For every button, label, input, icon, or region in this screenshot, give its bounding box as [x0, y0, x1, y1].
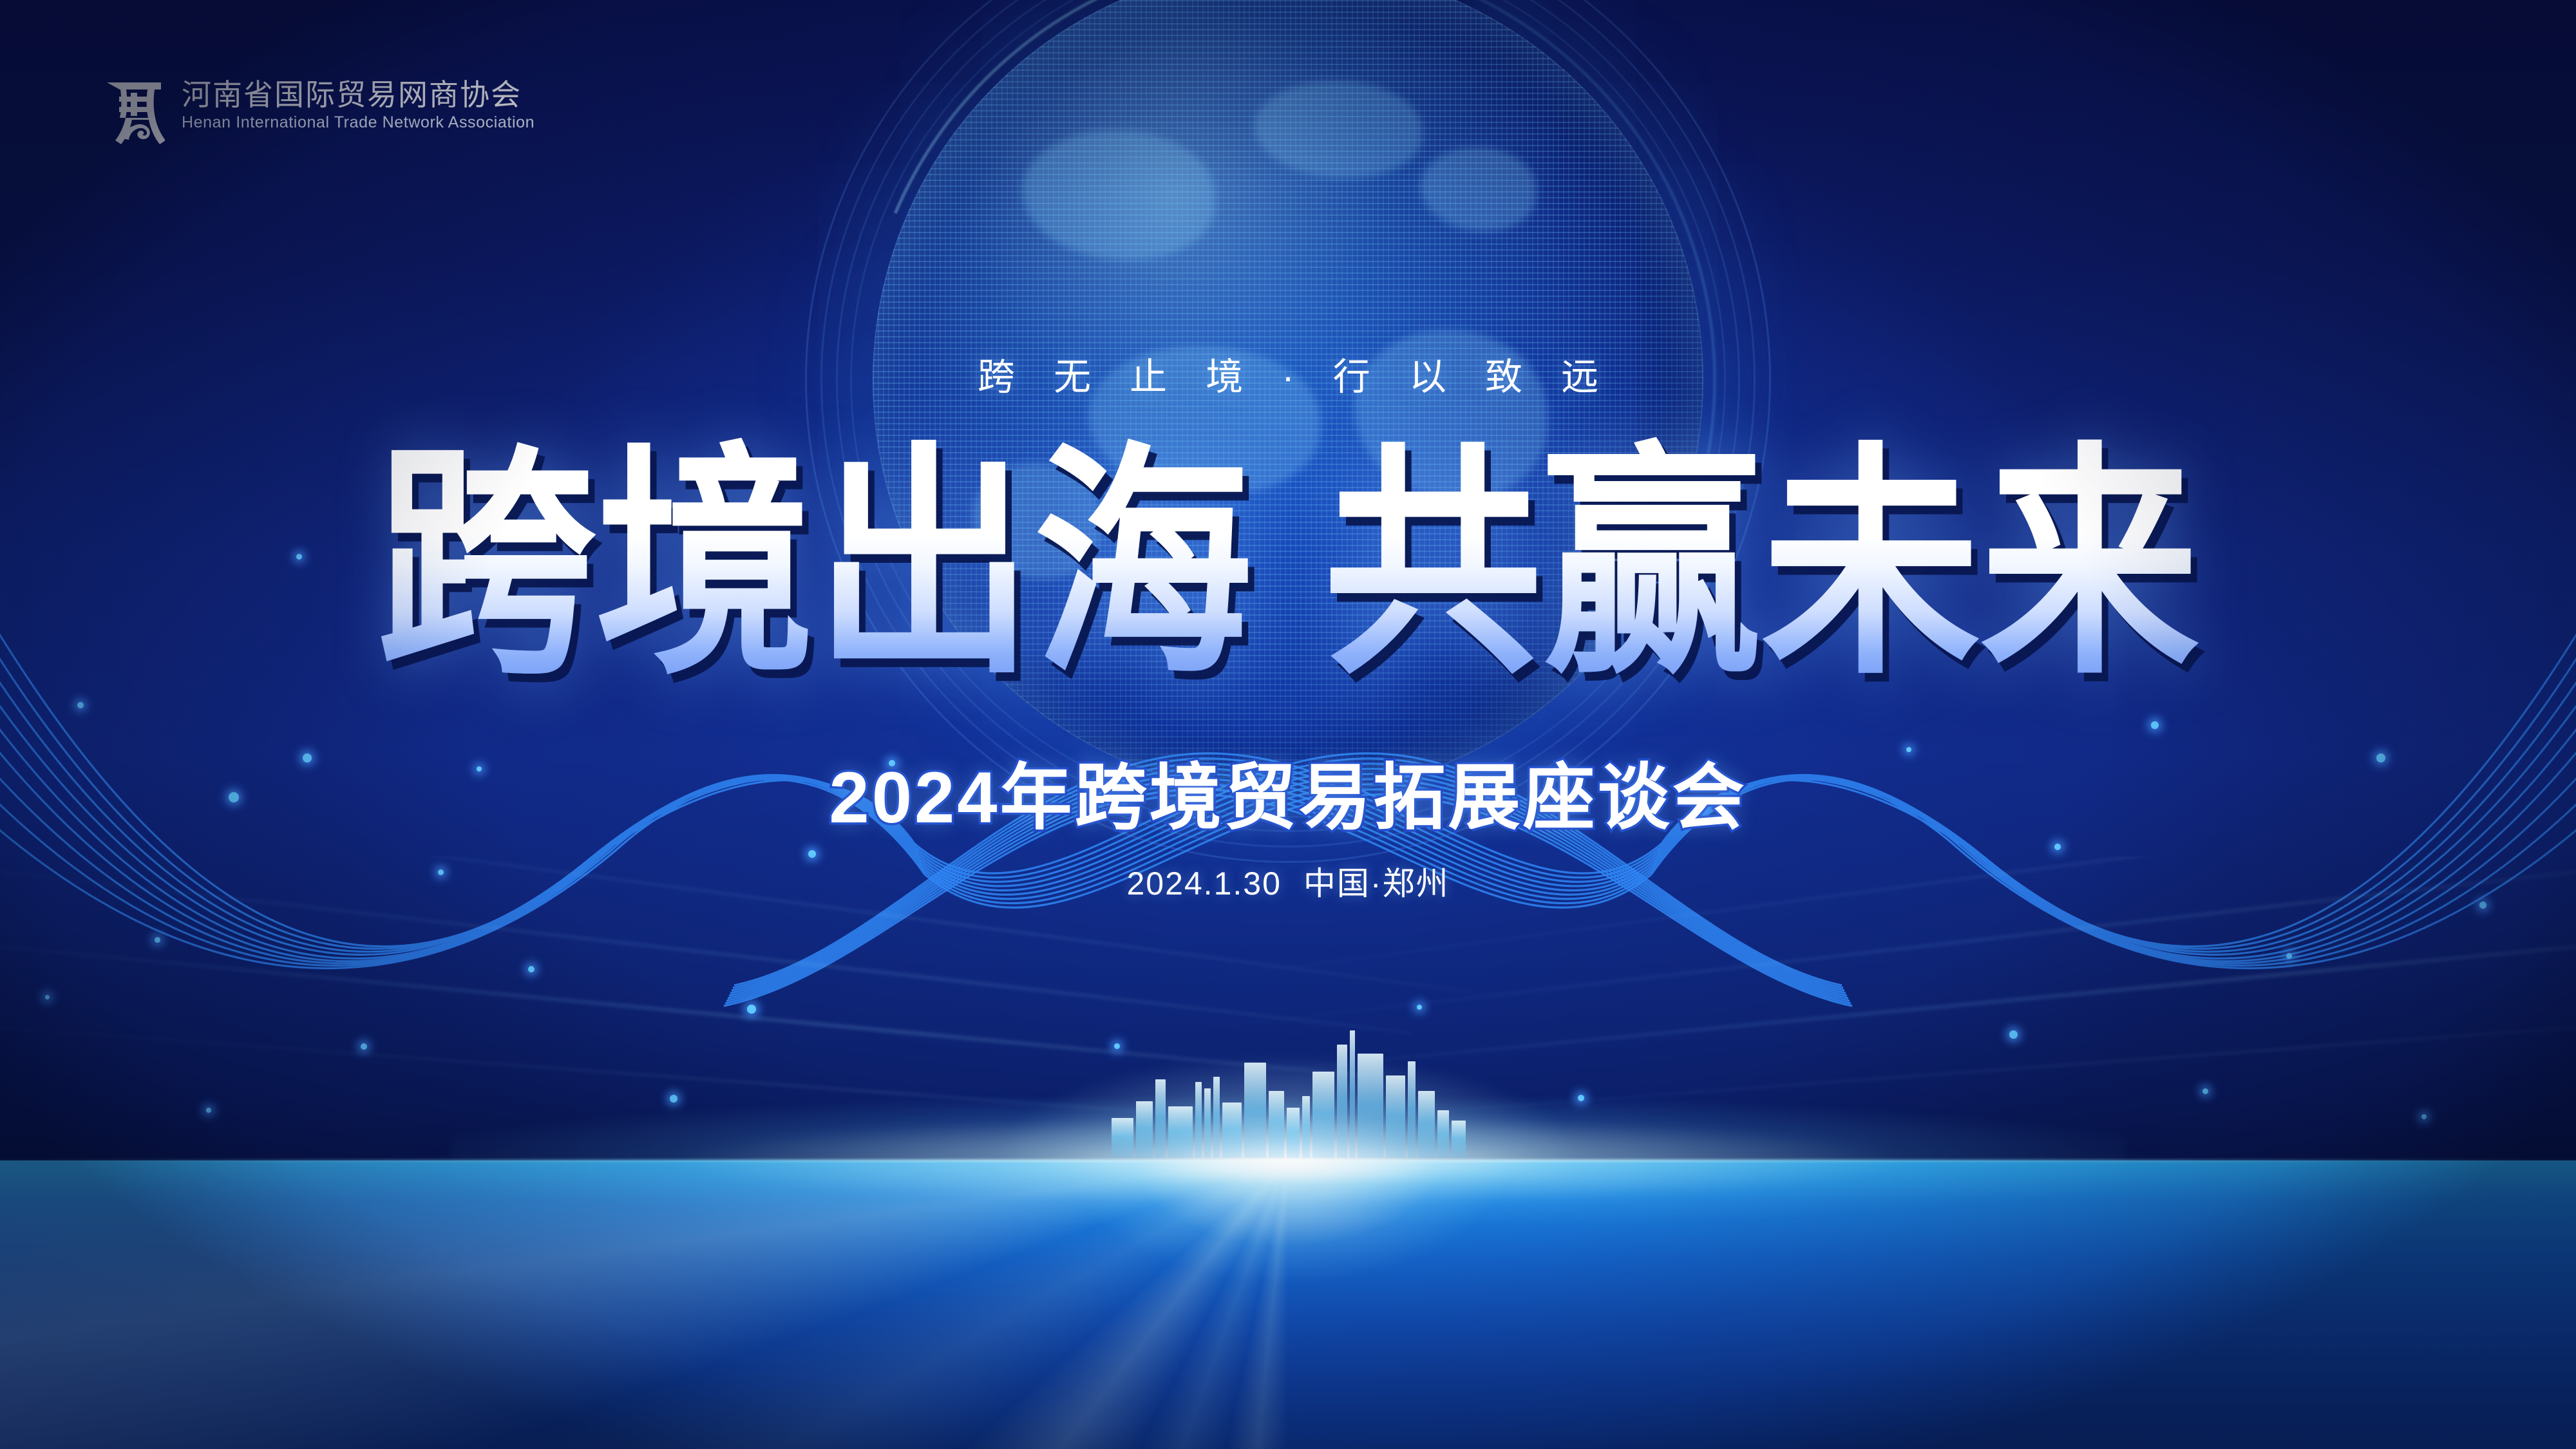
- event-headline: 跨境出海共赢未来: [0, 437, 2576, 667]
- event-subtitle: 2024年跨境贸易拓展座谈会: [0, 739, 2576, 844]
- event-date: 2024.1.30: [1126, 866, 1281, 902]
- event-tagline: 跨 无 止 境 · 行 以 致 远: [0, 346, 2576, 401]
- headline-part-1: 跨境出海: [377, 437, 1253, 667]
- seal-script-emblem-icon: [103, 77, 165, 147]
- event-date-location: 2024.1.30中国·郑州: [0, 858, 2576, 904]
- event-banner: 河南省国际贸易网商协会 Henan International Trade Ne…: [0, 0, 2576, 1449]
- association-logo[interactable]: 河南省国际贸易网商协会 Henan International Trade Ne…: [103, 77, 535, 147]
- association-name-cn: 河南省国际贸易网商协会: [182, 80, 535, 109]
- city-skyline-icon: [1108, 1023, 1468, 1158]
- association-name-en: Henan International Trade Network Associ…: [182, 115, 535, 131]
- headline-part-2: 共赢未来: [1323, 437, 2199, 667]
- event-location: 中国·郑州: [1303, 866, 1450, 902]
